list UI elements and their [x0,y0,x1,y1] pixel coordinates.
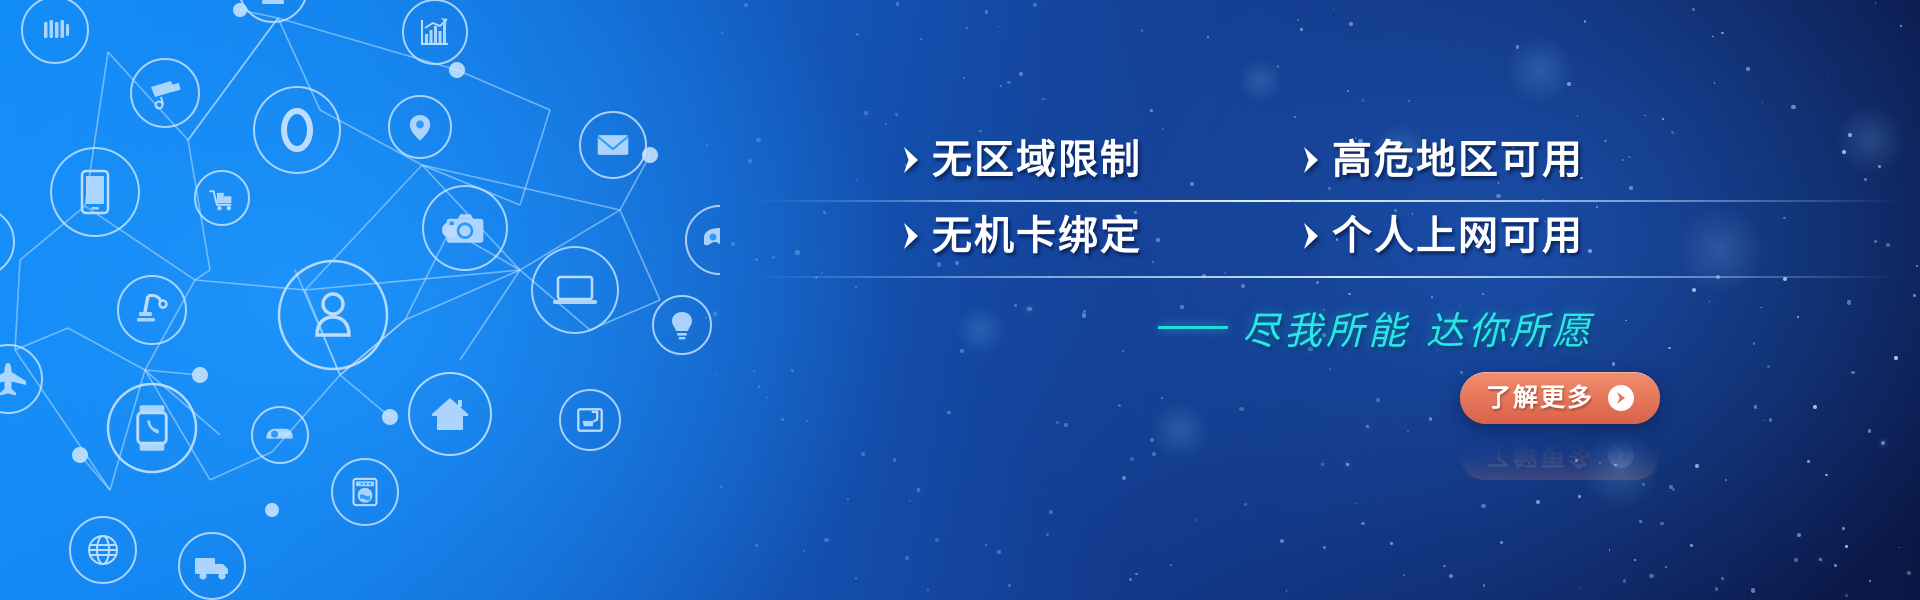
star [753,370,755,372]
star [766,397,768,399]
feature-item-0[interactable]: 无区域限制 [900,140,1300,180]
node-airplane-icon [0,345,42,413]
star [813,18,814,19]
star [823,211,826,214]
row-divider [750,276,1900,278]
node-coffee-machine-icon [560,390,620,450]
star [821,134,822,135]
node-smartphone-icon [51,148,139,236]
star [885,123,887,125]
banner-content: 无区域限制 高危地区可用 [900,0,1920,600]
node-car-key-icon [252,407,308,463]
node-user-icon [279,261,387,369]
star [895,113,898,116]
node-camera-icon [423,186,507,270]
node-washing-machine-icon [332,459,398,525]
star [744,3,748,7]
star [806,420,808,422]
chevron-right-icon [1300,219,1322,253]
node-chat-bubble-icon [0,208,14,276]
chevron-right-icon [900,143,922,177]
star [731,242,735,246]
node-globe-icon [70,517,136,583]
star [791,369,795,373]
node-ring-icon [254,87,340,173]
star [803,550,805,552]
feature-row-2: 无机卡绑定 个人上网可用 [900,216,1820,256]
feature-label: 无区域限制 [932,140,1142,180]
chevron-right-icon [1300,143,1322,177]
star [755,258,759,262]
star [755,544,758,547]
feature-label: 无机卡绑定 [932,216,1142,256]
star [821,272,823,274]
feature-item-3[interactable]: 个人上网可用 [1300,216,1700,256]
star [847,498,849,500]
iot-network-illustration [0,0,720,600]
arrow-right-circle-icon-reflection [1608,442,1634,468]
star [856,33,860,37]
star [762,480,763,481]
node-location-pin-icon [389,96,451,158]
feature-label: 高危地区可用 [1332,140,1584,180]
node-chart-growth-icon [403,0,467,64]
cta-label: 了解更多 [1486,386,1594,411]
feature-row-1: 无区域限制 高危地区可用 [900,140,1820,180]
node-vr-headset-icon [686,206,720,274]
star [893,458,897,462]
star [824,538,828,542]
node-security-camera-icon [131,59,199,127]
tagline-text: 尽我所能 达你所愿 [1242,300,1594,355]
feature-list: 无区域限制 高危地区可用 [900,140,1820,256]
feature-item-2[interactable]: 无机卡绑定 [900,216,1300,256]
star [896,2,900,6]
star [855,577,858,580]
row-divider [750,200,1900,202]
cta-reflection-label: 了解更多 [1486,443,1594,468]
star [855,286,857,288]
tagline: 尽我所能 达你所愿 [1158,300,1594,355]
star [795,250,799,254]
promo-banner: 无区域限制 高危地区可用 [0,0,1920,600]
chevron-right-icon [900,219,922,253]
star [721,32,723,34]
node-laptop-icon [532,247,618,333]
star [851,244,853,246]
node-tablet-chip-icon [239,0,307,22]
node-envelope-icon [580,112,646,178]
node-smartwatch-icon [108,384,196,472]
star [805,98,806,99]
feature-item-1[interactable]: 高危地区可用 [1300,140,1700,180]
cta-reflection: 了解更多 [1460,430,1660,480]
star [864,111,868,115]
star [856,179,858,181]
node-shopping-cart-icon [195,171,249,225]
cta-container: 了解更多 了解更多 [1460,372,1680,424]
star [861,452,865,456]
star [781,418,784,421]
tagline-dash [1158,326,1228,329]
star [866,491,868,493]
node-signal-bars-icon [22,0,88,63]
learn-more-button[interactable]: 了解更多 [1460,372,1660,424]
node-lightbulb-icon [653,296,711,354]
star [748,159,752,163]
star [772,256,776,260]
star [758,385,761,388]
node-house-icon [409,373,491,455]
feature-label: 个人上网可用 [1332,216,1584,256]
node-truck-icon [179,533,245,599]
star [720,485,722,487]
node-robot-arm-icon [118,276,186,344]
arrow-right-circle-icon [1608,385,1634,411]
star [756,138,761,143]
